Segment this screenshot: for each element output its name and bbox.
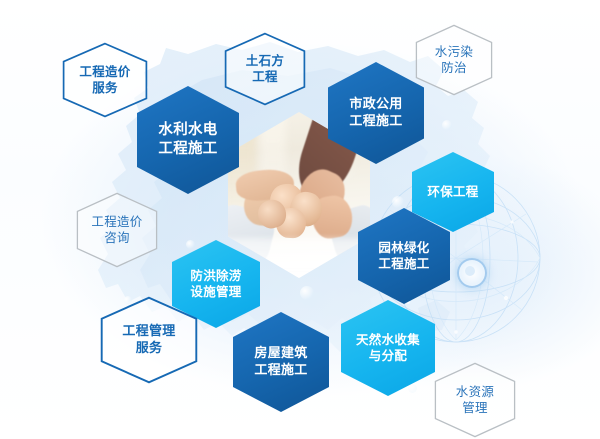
- hex-line: 服务: [79, 80, 130, 96]
- hex-line: 管理: [456, 400, 494, 416]
- hex-line: 工程施工: [349, 113, 402, 130]
- hex-label: 工程管理 服务: [122, 323, 175, 356]
- hex-label: 水资源 管理: [456, 384, 494, 416]
- hex-label: 市政公用 工程施工: [349, 96, 402, 129]
- hex-line: 水资源: [456, 384, 494, 400]
- infographic-canvas: 工程造价 服务 土石方 工程 水污染 防治 水利水电 工程施工 市政公用: [0, 0, 600, 439]
- hex-engineering-cost-consulting[interactable]: 工程造价 咨询: [76, 192, 158, 268]
- hex-line: 环保工程: [427, 184, 478, 200]
- hex-water-pollution-control[interactable]: 水污染 防治: [415, 24, 493, 96]
- hex-line: 工程施工: [158, 140, 217, 159]
- hex-label: 工程造价 咨询: [91, 214, 142, 246]
- hex-label: 水污染 防治: [435, 44, 473, 76]
- hex-line: 防洪除涝: [190, 268, 241, 284]
- globe-node-marker: [457, 258, 487, 288]
- hex-line: 工程施工: [254, 362, 307, 379]
- hex-label: 土石方 工程: [246, 53, 284, 85]
- hex-line: 水污染: [435, 44, 473, 60]
- hex-label: 防洪除涝 设施管理: [190, 268, 241, 300]
- hex-label: 环保工程: [427, 184, 478, 200]
- hex-line: 工程造价: [79, 64, 130, 80]
- hex-engineering-cost-service[interactable]: 工程造价 服务: [62, 42, 148, 118]
- hex-line: 工程造价: [91, 214, 142, 230]
- hex-line: 设施管理: [190, 284, 241, 300]
- hex-water-resource-management[interactable]: 水资源 管理: [434, 362, 516, 438]
- hex-line: 市政公用: [349, 96, 402, 113]
- hex-line: 服务: [122, 340, 175, 357]
- hex-line: 咨询: [91, 230, 142, 246]
- hex-label: 房屋建筑 工程施工: [254, 345, 307, 378]
- hex-line: 工程管理: [122, 323, 175, 340]
- hex-line: 园林绿化: [378, 240, 429, 256]
- hex-line: 水利水电: [158, 121, 217, 140]
- hex-earth-rock-works[interactable]: 土石方 工程: [224, 32, 306, 106]
- hex-label: 工程造价 服务: [79, 64, 130, 96]
- hex-line: 与分配: [356, 348, 420, 364]
- hex-engineering-management-service[interactable]: 工程管理 服务: [100, 296, 198, 384]
- hex-label: 园林绿化 工程施工: [378, 240, 429, 272]
- hex-line: 防治: [435, 60, 473, 76]
- hex-label: 天然水收集 与分配: [356, 332, 420, 364]
- hex-line: 工程: [246, 69, 284, 85]
- hex-line: 工程施工: [378, 256, 429, 272]
- hex-line: 天然水收集: [356, 332, 420, 348]
- hex-line: 土石方: [246, 53, 284, 69]
- hex-line: 房屋建筑: [254, 345, 307, 362]
- hex-label: 水利水电 工程施工: [158, 121, 217, 158]
